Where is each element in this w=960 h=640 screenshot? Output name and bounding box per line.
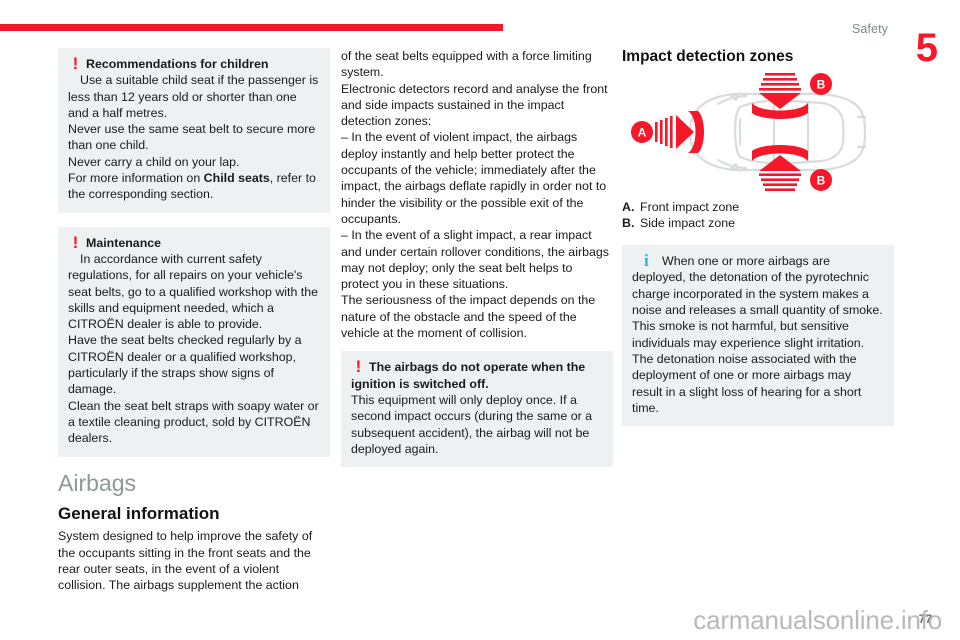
manual-page: Safety 5 !Recommendations for children U… — [0, 0, 960, 640]
svg-text:A: A — [638, 125, 647, 139]
svg-text:B: B — [817, 77, 826, 91]
legend-key-b: B. — [622, 215, 640, 231]
middle-para-2: Electronic detectors record and analyse … — [341, 81, 613, 130]
middle-para-4: – In the event of a slight impact, a rea… — [341, 227, 613, 292]
chapter-label: Safety — [852, 22, 888, 36]
legend-item-b: B. Side impact zone — [622, 215, 894, 231]
header-red-rule — [0, 24, 503, 31]
side-impact-arrow-top: B — [752, 73, 832, 119]
callout-ignition-heading: !The airbags do not operate when the ign… — [351, 359, 603, 392]
callout-maintenance-para-1: In accordance with current safety regula… — [68, 251, 320, 332]
callout-maintenance-heading: !Maintenance — [68, 235, 320, 251]
section-title-airbags: Airbags — [58, 471, 330, 496]
callout-maintenance-para-3: Clean the seat belt straps with soapy wa… — [68, 398, 320, 447]
child-seats-emphasis: Child seats — [204, 171, 270, 185]
warning-exclamation-icon: ! — [351, 359, 366, 375]
impact-detection-zones-title: Impact detection zones — [622, 48, 894, 67]
callout-ignition-off: !The airbags do not operate when the ign… — [341, 351, 613, 467]
callout-deployment-para-3: The detonation noise associated with the… — [632, 351, 884, 416]
callout-ignition-body: This equipment will only deploy once. If… — [351, 392, 603, 457]
general-information-body: System designed to help improve the safe… — [58, 528, 330, 593]
legend-key-a: A. — [622, 199, 640, 215]
callout-airbag-deployment: iWhen one or more airbags are deployed, … — [622, 245, 894, 426]
column-middle: of the seat belts equipped with a force … — [341, 48, 613, 481]
chapter-number: 5 — [916, 28, 938, 68]
column-right: Impact detection zones — [622, 48, 894, 440]
subsection-title-general-information: General information — [58, 504, 330, 524]
legend-text-a: Front impact zone — [640, 199, 739, 215]
svg-text:B: B — [817, 173, 826, 187]
legend-item-a: A. Front impact zone — [622, 199, 894, 215]
callout-deployment-para-2: This smoke is not harmful, but sensitive… — [632, 318, 884, 351]
warning-exclamation-icon: ! — [68, 235, 83, 251]
callout-deployment-para-1: iWhen one or more airbags are deployed, … — [632, 253, 884, 318]
callout-maintenance-para-2: Have the seat belts checked regularly by… — [68, 332, 320, 397]
callout-children-para-4: For more information on Child seats, ref… — [68, 170, 320, 203]
callout-children-para-2: Never use the same seat belt to secure m… — [68, 121, 320, 154]
info-i-icon: i — [632, 253, 647, 269]
site-watermark: carmanualsonline.info — [693, 605, 942, 636]
callout-recommendations-for-children: !Recommendations for children Use a suit… — [58, 48, 330, 213]
column-left: !Recommendations for children Use a suit… — [58, 48, 330, 593]
callout-children-heading: !Recommendations for children — [68, 56, 320, 72]
warning-exclamation-icon: ! — [68, 56, 83, 72]
callout-children-para-1: Use a suitable child seat if the passeng… — [68, 72, 320, 121]
callout-maintenance: !Maintenance In accordance with current … — [58, 227, 330, 457]
side-impact-arrow-bottom: B — [752, 145, 832, 191]
middle-para-1: of the seat belts equipped with a force … — [341, 48, 613, 81]
legend-text-b: Side impact zone — [640, 215, 735, 231]
front-impact-arrow: A — [631, 111, 704, 153]
middle-para-3: – In the event of violent impact, the ai… — [341, 129, 613, 227]
middle-para-5: The seriousness of the impact depends on… — [341, 292, 613, 341]
callout-children-para-3: Never carry a child on your lap. — [68, 154, 320, 170]
impact-detection-zones-diagram: A B — [622, 73, 894, 191]
